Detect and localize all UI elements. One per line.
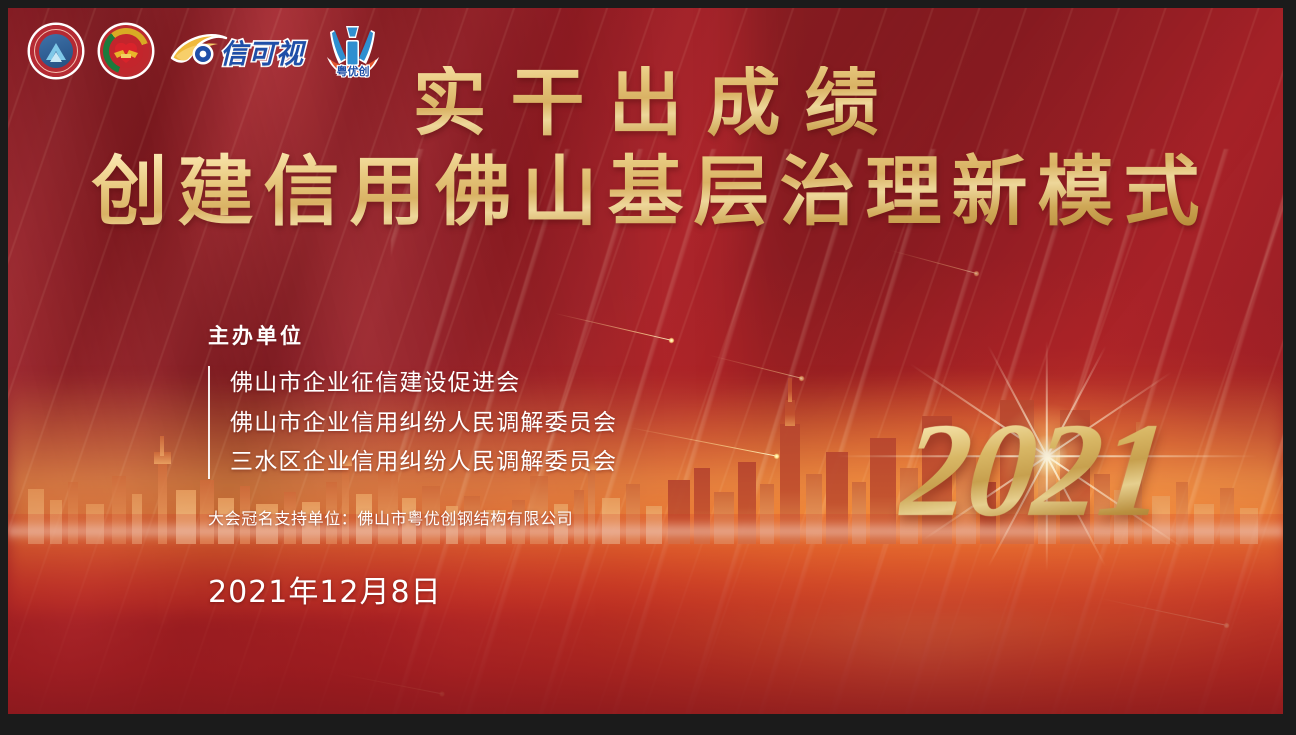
host-org-3: 三水区企业信用纠纷人民调解委员会 [230,443,617,483]
vertical-rule [208,366,210,479]
sponsor-line: 大会冠名支持单位：佛山市粤优创钢结构有限公司 [208,505,617,529]
year-graphic: 2021 [896,403,1172,538]
eye-icon [170,32,232,70]
yueyouchuang-icon: 粤优创 [322,24,384,78]
event-date: 2021年12月8日 [208,567,617,611]
poster-frame: 2021 [0,0,1296,735]
logo-bar: 信可视 粤优创 [30,24,384,78]
logo-fsqyzx [30,25,82,77]
host-org-1: 佛山市企业征信建设促进会 [230,364,617,404]
poster-canvas: 2021 [8,8,1283,714]
host-organizations: 佛山市企业征信建设促进会 佛山市企业信用纠纷人民调解委员会 三水区企业信用纠纷人… [208,364,617,483]
logo-yueyouchuang: 粤优创 [322,24,384,78]
host-title: 主办单位 [208,320,617,350]
yueyouchuang-label: 粤优创 [337,63,370,79]
logo-xinkeshi: 信可视 [170,32,304,71]
host-org-2: 佛山市企业信用纠纷人民调解委员会 [230,404,617,444]
headline-block: 实干出成绩 创建信用佛山基层治理新模式 [8,66,1283,235]
info-block: 主办单位 佛山市企业征信建设促进会 佛山市企业信用纠纷人民调解委员会 三水区企业… [208,320,617,611]
fsqyzx-emblem-icon [30,25,82,77]
xinkeshi-label: 信可视 [220,32,304,71]
headline-line-2: 创建信用佛山基层治理新模式 [8,149,1283,234]
logo-mediation [100,25,152,77]
handshake-emblem-icon [100,25,152,77]
